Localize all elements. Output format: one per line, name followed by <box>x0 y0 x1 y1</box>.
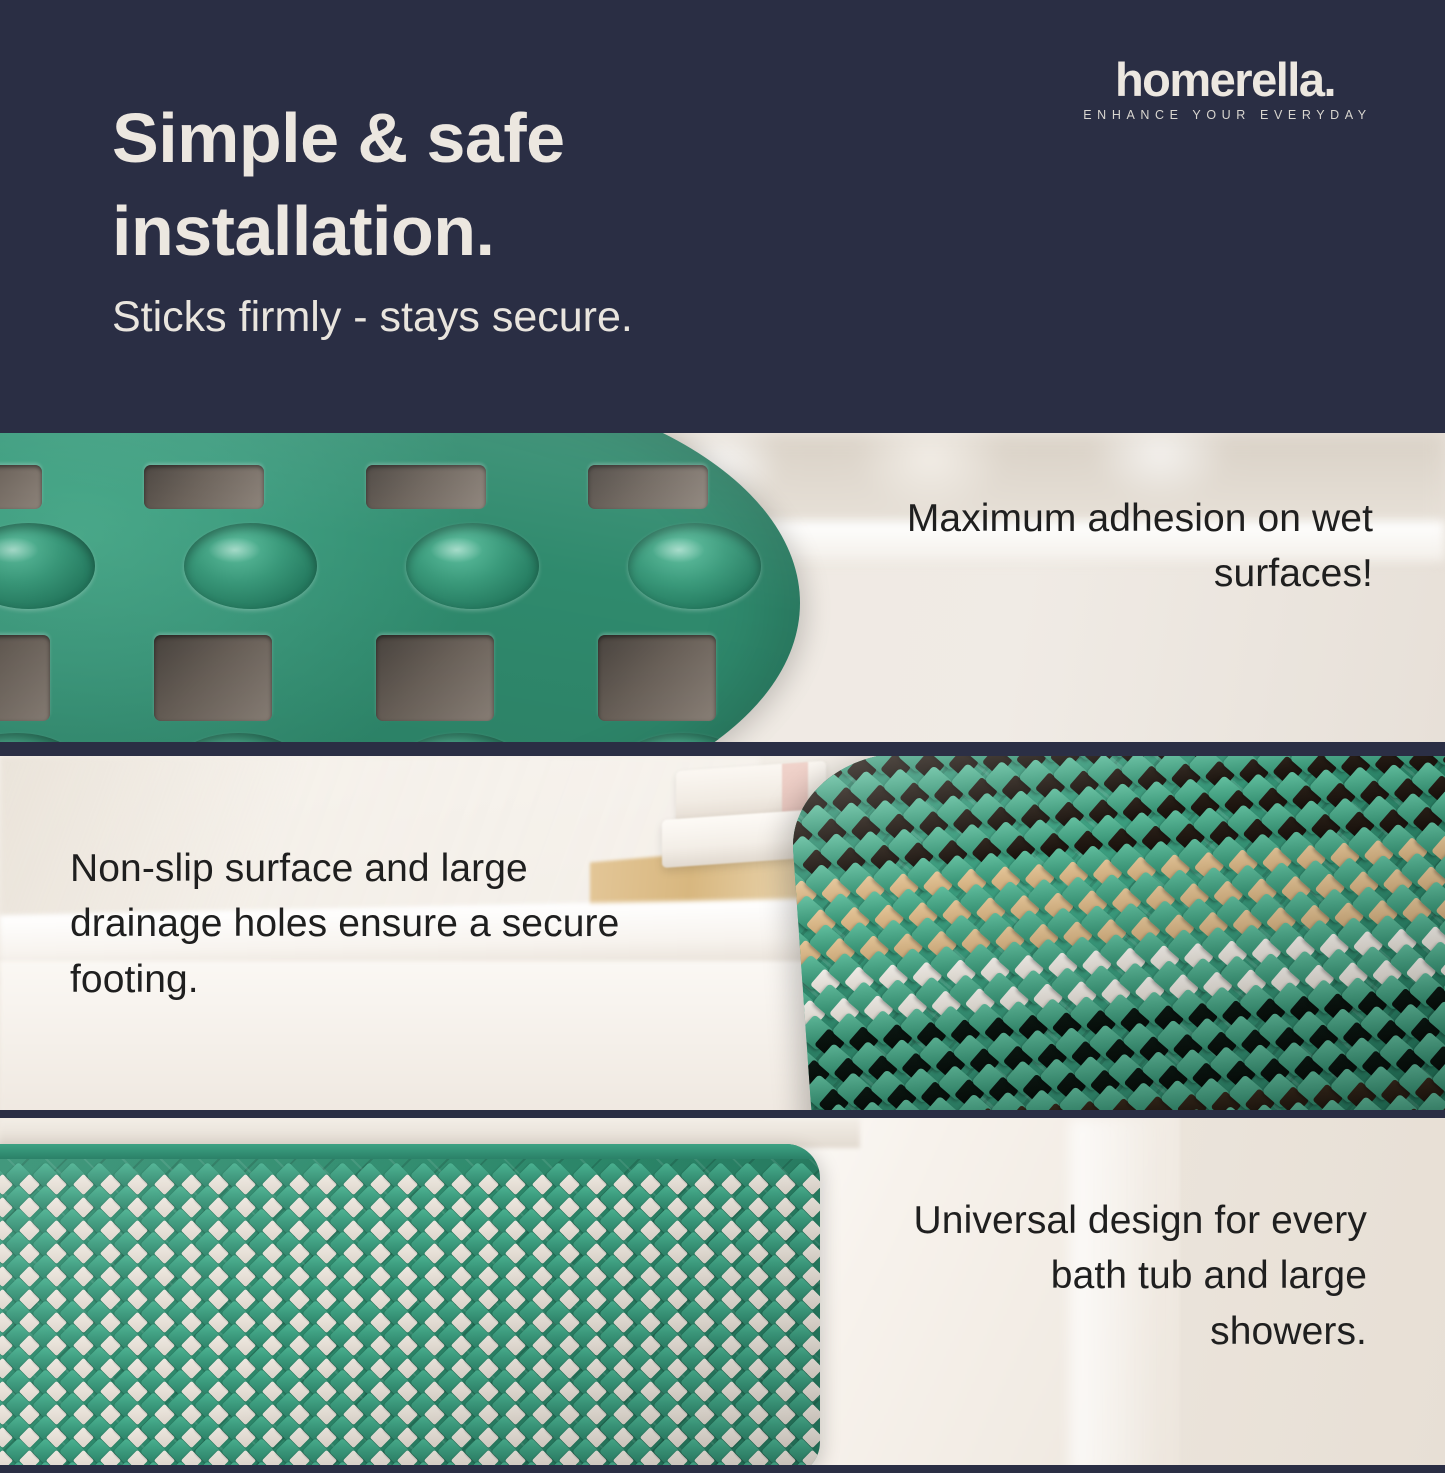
drainage-hole <box>234 1335 255 1356</box>
mat-stud <box>1133 931 1170 968</box>
drainage-hole <box>234 1243 255 1264</box>
mat-stud <box>984 761 1021 798</box>
drainage-hole <box>954 1078 985 1109</box>
drainage-hole <box>1310 813 1341 844</box>
drainage-hole <box>126 1266 147 1287</box>
mat-stud <box>59 1392 86 1419</box>
drainage-hole <box>1270 966 1301 997</box>
drainage-hole <box>18 1427 39 1448</box>
drainage-hole <box>396 1197 417 1218</box>
mat-stud <box>518 1208 545 1235</box>
mat-stud <box>248 1415 275 1442</box>
drainage-hole <box>801 1243 820 1264</box>
drainage-hole <box>288 1427 309 1448</box>
brand-logo: homerella. ENHANCE YOUR EVERYDAY <box>1075 55 1375 122</box>
drainage-hole <box>666 1312 687 1333</box>
mat-stud <box>302 1254 329 1281</box>
mat-stud <box>1056 816 1093 853</box>
mat-stud <box>599 1323 626 1350</box>
drainage-hole <box>1435 894 1445 925</box>
mat-stud <box>221 1208 248 1235</box>
drainage-hole <box>720 1381 741 1402</box>
drainage-hole <box>504 1427 525 1448</box>
mat-stud <box>1122 1022 1159 1059</box>
mat-stud <box>545 1208 572 1235</box>
mat-stud <box>969 792 1006 829</box>
mat-stud <box>707 1369 734 1396</box>
mat-stud <box>599 1415 626 1442</box>
drainage-hole <box>45 1335 66 1356</box>
mat-stud <box>1154 756 1191 785</box>
drainage-hole <box>207 1289 228 1310</box>
drainage-hole <box>45 1312 66 1333</box>
mat-stud <box>275 1254 302 1281</box>
mat-stud <box>1166 928 1203 965</box>
mat-stud <box>1328 797 1365 834</box>
drainage-hole <box>720 1220 741 1241</box>
drainage-hole <box>1243 818 1274 849</box>
drainage-hole <box>1293 1055 1324 1086</box>
drainage-hole <box>1217 940 1248 971</box>
mat-stud <box>572 1346 599 1373</box>
drainage-hole <box>18 1404 39 1425</box>
page-title: Simple & safe installation. <box>112 92 872 278</box>
mat-stud <box>1253 952 1290 989</box>
drainage-hole <box>369 1174 390 1195</box>
drainage-hole <box>558 1174 579 1195</box>
mat-stud <box>1431 1060 1445 1097</box>
mat-stud <box>788 1300 815 1327</box>
mat-stud <box>275 1300 302 1327</box>
mat-stud <box>884 1038 921 1075</box>
mat-stud <box>680 1438 707 1465</box>
mat-stud <box>1275 770 1312 807</box>
drainage-hole <box>1372 959 1403 990</box>
drainage-hole <box>1160 854 1191 885</box>
drainage-hole <box>1118 756 1149 767</box>
drainage-hole <box>774 1289 795 1310</box>
mat-stud <box>891 887 928 924</box>
mat-stud <box>221 1162 248 1189</box>
drainage-hole <box>1329 842 1360 873</box>
mat-stud <box>518 1231 545 1258</box>
mat-stud <box>1332 857 1369 894</box>
drainage-hole <box>207 1220 228 1241</box>
mat-stud <box>248 1300 275 1327</box>
mat-stud <box>1158 809 1195 846</box>
drainage-hole <box>315 1220 336 1241</box>
drainage-hole <box>720 1266 741 1287</box>
drainage-hole <box>1066 980 1097 1011</box>
drainage-hole <box>774 1358 795 1379</box>
mat-stud <box>1107 1053 1144 1090</box>
drainage-hole <box>1429 1045 1445 1076</box>
drainage-hole <box>1281 875 1312 906</box>
drainage-hole <box>1228 849 1259 880</box>
drainage-hole <box>558 1381 579 1402</box>
drainage-hole <box>18 1335 39 1356</box>
drainage-hole <box>747 1335 768 1356</box>
drainage-hole <box>1043 892 1074 923</box>
mat-stud <box>5 1415 32 1442</box>
mat-stud <box>1162 868 1199 905</box>
mat-stud <box>707 1185 734 1212</box>
drainage-hole <box>477 1174 498 1195</box>
drainage-hole <box>612 1220 633 1241</box>
mat-stud <box>838 861 875 898</box>
drainage-hole <box>1119 1007 1150 1038</box>
drainage-hole <box>747 1220 768 1241</box>
drainage-hole <box>666 1381 687 1402</box>
mat-stud <box>32 1185 59 1212</box>
drainage-hole <box>1296 844 1327 875</box>
mat-stud <box>1061 876 1098 913</box>
drainage-hole <box>720 1427 741 1448</box>
mat-stud <box>1313 828 1350 865</box>
mat-stud <box>545 1369 572 1396</box>
mat-stud <box>221 1392 248 1419</box>
drainage-hole <box>1300 904 1331 935</box>
mat-stud <box>113 1254 140 1281</box>
mat-stud <box>167 1415 194 1442</box>
drainage-hole <box>207 1243 228 1264</box>
mat-stud <box>761 1231 788 1258</box>
drainage-hole <box>1274 1026 1305 1057</box>
mat-stud <box>86 1300 113 1327</box>
mat-stud <box>761 1392 788 1419</box>
mat-stud <box>787 775 818 812</box>
mat-stud <box>1381 823 1418 860</box>
mat-stud <box>1370 914 1407 951</box>
mat-stud <box>0 1369 5 1396</box>
mat-stud <box>572 1231 599 1258</box>
drainage-hole <box>153 1174 174 1195</box>
drainage-hole <box>1251 937 1282 968</box>
mat-stud <box>59 1300 86 1327</box>
drainage-hole <box>1100 978 1131 1009</box>
drainage-hole <box>450 1427 471 1448</box>
drainage-hole <box>1134 976 1165 1007</box>
drainage-hole <box>666 1243 687 1264</box>
drainage-hole <box>234 1289 255 1310</box>
drainage-hole <box>72 1404 93 1425</box>
drainage-hole <box>867 1054 898 1085</box>
mat-stud <box>275 1346 302 1373</box>
drainage-hole <box>234 1381 255 1402</box>
drainage-hole <box>914 756 945 781</box>
mat-stud <box>545 1415 572 1442</box>
mat-stud <box>1400 852 1437 889</box>
drainage-hole <box>1149 945 1180 976</box>
mat-stud <box>59 1323 86 1350</box>
drainage-hole <box>99 1358 120 1379</box>
suction-cup <box>628 523 761 609</box>
mat-stud <box>1120 756 1157 788</box>
drainage-hole <box>450 1197 471 1218</box>
drainage-hole <box>1156 794 1187 825</box>
mat-stud <box>329 1323 356 1350</box>
mat-stud <box>194 1346 221 1373</box>
mat-stud <box>937 1065 974 1102</box>
mat-stud <box>944 914 981 951</box>
drainage-hole <box>72 1335 93 1356</box>
mat-stud <box>518 1277 545 1304</box>
drainage-hole <box>369 1266 390 1287</box>
drainage-hole <box>598 635 716 721</box>
mat-stud <box>518 1438 545 1465</box>
mat-stud <box>545 1254 572 1281</box>
mat-stud <box>1147 900 1184 937</box>
suction-cup <box>406 523 539 609</box>
mat-stud <box>437 1323 464 1350</box>
mat-stud <box>788 1438 815 1465</box>
drainage-hole <box>1077 889 1108 920</box>
mat-stud <box>302 1438 329 1465</box>
drainage-hole <box>315 1358 336 1379</box>
drainage-hole <box>720 1197 741 1218</box>
mat-stud <box>1080 904 1117 941</box>
drainage-hole <box>144 465 264 509</box>
mat-stud <box>707 1254 734 1281</box>
drainage-hole <box>234 1220 255 1241</box>
mat-stud <box>1152 959 1189 996</box>
drainage-hole <box>693 1381 714 1402</box>
mat-stud <box>865 1009 902 1046</box>
mat-stud <box>491 1369 518 1396</box>
drainage-hole <box>450 1335 471 1356</box>
drainage-hole <box>927 930 958 961</box>
mat-stud <box>383 1185 410 1212</box>
mat-stud <box>248 1346 275 1373</box>
drainage-hole <box>423 1312 444 1333</box>
mat-stud <box>5 1277 32 1304</box>
mat-stud <box>464 1185 491 1212</box>
mat-stud <box>302 1208 329 1235</box>
mat-stud <box>437 1231 464 1258</box>
mat-stud <box>545 1277 572 1304</box>
mat-stud <box>0 1323 5 1350</box>
drainage-hole <box>207 1174 228 1195</box>
drainage-hole <box>986 806 1017 837</box>
mat-stud <box>626 1277 653 1304</box>
drainage-hole <box>504 1243 525 1264</box>
drainage-hole <box>774 1381 795 1402</box>
drainage-hole <box>207 1427 228 1448</box>
drainage-hole <box>1219 756 1250 760</box>
mat-stud <box>761 1208 788 1235</box>
drainage-hole <box>99 1289 120 1310</box>
mat-stud <box>1362 794 1399 831</box>
drainage-hole <box>874 904 905 935</box>
mat-stud <box>917 765 954 802</box>
mat-stud <box>1041 847 1078 884</box>
drainage-hole <box>369 1197 390 1218</box>
mat-stud <box>788 1254 815 1281</box>
panel-divider-1 <box>0 742 1445 750</box>
drainage-hole <box>666 1174 687 1195</box>
mat-stud <box>113 1300 140 1327</box>
mat-stud <box>32 1162 59 1189</box>
drainage-hole <box>45 1266 66 1287</box>
drainage-hole <box>99 1197 120 1218</box>
mat-stud <box>383 1346 410 1373</box>
drainage-hole <box>1086 1009 1117 1040</box>
mat-stud <box>1272 981 1309 1018</box>
drainage-hole <box>45 1197 66 1218</box>
mat-stud <box>167 1208 194 1235</box>
drainage-hole <box>18 1312 39 1333</box>
drainage-hole <box>423 1266 444 1287</box>
mat-stud <box>680 1185 707 1212</box>
drainage-hole <box>288 1312 309 1333</box>
mat-stud <box>437 1254 464 1281</box>
mat-stud <box>464 1162 491 1189</box>
mat-stud <box>827 952 864 989</box>
drainage-hole <box>1206 1031 1237 1062</box>
mat-stud <box>464 1254 491 1281</box>
drainage-hole <box>99 1220 120 1241</box>
drainage-hole <box>366 465 486 509</box>
drainage-hole <box>639 1266 660 1287</box>
mat-stud <box>59 1277 86 1304</box>
drainage-hole <box>693 1197 714 1218</box>
mat-stud <box>734 1162 761 1189</box>
drainage-hole <box>585 1335 606 1356</box>
mat-stud <box>1378 1034 1415 1071</box>
drainage-hole <box>423 1197 444 1218</box>
drainage-hole <box>666 1289 687 1310</box>
mat-stud <box>194 1254 221 1281</box>
mat-stud <box>356 1438 383 1465</box>
mat-stud <box>761 1254 788 1281</box>
drainage-hole <box>1406 957 1437 988</box>
mat-stud <box>302 1300 329 1327</box>
drainage-hole <box>812 758 843 789</box>
drainage-hole <box>666 1358 687 1379</box>
mat-stud <box>437 1208 464 1235</box>
drainage-hole <box>234 1197 255 1218</box>
mat-stud <box>1311 1038 1348 1075</box>
mat-stud <box>823 892 860 929</box>
drainage-hole <box>1325 782 1356 813</box>
mat-stud <box>1196 866 1233 903</box>
drainage-hole <box>0 1243 13 1264</box>
panel3-caption: Universal design for every bath tub and … <box>897 1193 1367 1359</box>
drainage-hole <box>126 1197 147 1218</box>
mat-stud <box>167 1323 194 1350</box>
mat-stud <box>1181 897 1218 934</box>
mat-stud <box>140 1392 167 1419</box>
drainage-hole <box>261 1197 282 1218</box>
drainage-hole <box>261 1404 282 1425</box>
mat-stud <box>1366 854 1403 891</box>
mat-stud <box>734 1369 761 1396</box>
mat-stud <box>32 1346 59 1373</box>
mat-stud <box>410 1254 437 1281</box>
mat-stud <box>974 852 1011 889</box>
drainage-hole <box>207 1312 228 1333</box>
drainage-hole <box>952 808 983 839</box>
mat-stud <box>952 1033 989 1070</box>
drainage-hole <box>369 1220 390 1241</box>
drainage-hole <box>720 1404 741 1425</box>
drainage-hole <box>1259 1057 1290 1088</box>
mat-stud <box>464 1415 491 1442</box>
drainage-hole <box>693 1427 714 1448</box>
drainage-hole <box>477 1404 498 1425</box>
mat-stud <box>734 1208 761 1235</box>
drainage-hole <box>693 1243 714 1264</box>
mat-stud <box>329 1300 356 1327</box>
drainage-hole <box>1247 878 1278 909</box>
drainage-hole <box>1410 1017 1441 1048</box>
mat-stud <box>140 1369 167 1396</box>
mat-stud <box>626 1254 653 1281</box>
mat-stud <box>796 756 833 780</box>
drainage-hole <box>774 1335 795 1356</box>
drainage-hole <box>396 1266 417 1287</box>
mat-stud <box>1410 761 1445 798</box>
drainage-hole <box>1050 756 1081 772</box>
drainage-hole <box>639 1220 660 1241</box>
mat-stud <box>113 1323 140 1350</box>
mat-stud <box>167 1392 194 1419</box>
drainage-hole <box>801 1220 820 1241</box>
drainage-hole <box>315 1404 336 1425</box>
drainage-hole <box>531 1289 552 1310</box>
drainage-hole <box>207 1404 228 1425</box>
mat-stud <box>437 1438 464 1465</box>
drainage-hole <box>234 1427 255 1448</box>
drainage-hole <box>817 817 848 848</box>
drainage-hole <box>747 1197 768 1218</box>
drainage-hole <box>836 846 867 877</box>
mat-stud <box>32 1323 59 1350</box>
drainage-hole <box>180 1358 201 1379</box>
drainage-hole <box>1001 774 1032 805</box>
mat-stud <box>734 1277 761 1304</box>
drainage-hole <box>1073 830 1104 861</box>
drainage-hole <box>477 1197 498 1218</box>
mat-stud <box>1344 1036 1381 1073</box>
mat-stud <box>1264 861 1301 898</box>
mat-stud <box>167 1231 194 1258</box>
drainage-hole <box>0 1289 13 1310</box>
mat-stud <box>356 1208 383 1235</box>
mat-stud <box>599 1438 626 1465</box>
mat-stud <box>626 1300 653 1327</box>
drainage-hole <box>1016 756 1047 774</box>
mat-stud <box>275 1162 302 1189</box>
mat-stud <box>464 1369 491 1396</box>
mat-stud <box>32 1300 59 1327</box>
drainage-hole <box>1158 1064 1189 1095</box>
drainage-hole <box>396 1335 417 1356</box>
drainage-hole <box>1363 839 1394 870</box>
drainage-hole <box>45 1289 66 1310</box>
drainage-hole <box>180 1289 201 1310</box>
drainage-hole <box>666 1404 687 1425</box>
drainage-hole <box>180 1243 201 1264</box>
mat-stud <box>1192 806 1229 843</box>
mat-stud <box>491 1346 518 1373</box>
drainage-hole <box>504 1220 525 1241</box>
drainage-hole <box>45 1427 66 1448</box>
drainage-hole <box>423 1243 444 1264</box>
drainage-hole <box>666 1197 687 1218</box>
drainage-hole <box>1115 947 1146 978</box>
drainage-hole <box>1122 796 1153 827</box>
